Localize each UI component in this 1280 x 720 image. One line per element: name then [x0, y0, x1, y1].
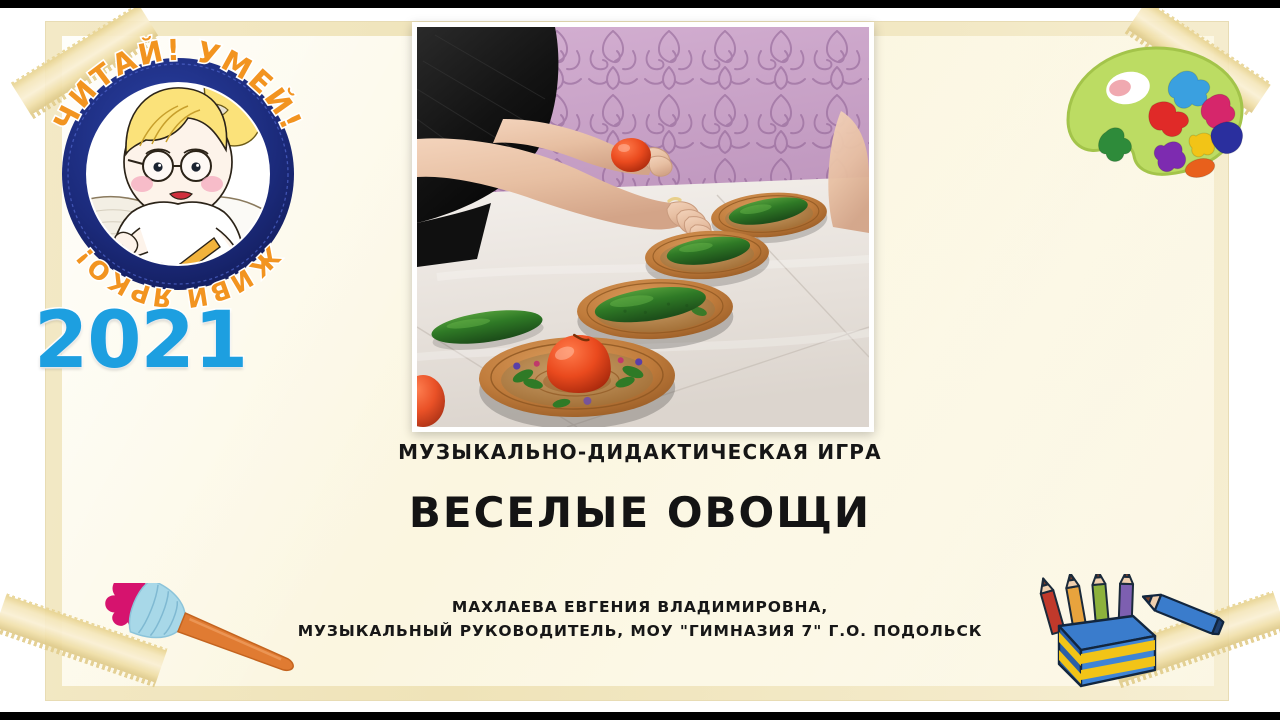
page-title: ВЕСЕЛЫЕ ОВОЩИ — [0, 488, 1280, 537]
letterbox-bar-bottom — [0, 712, 1280, 720]
logo-badge: ЧИТАЙ! УМЕЙ! ЖИВИ ЯРКО! — [28, 14, 328, 314]
photo-frame — [412, 22, 874, 432]
subtitle-text: МУЗЫКАЛЬНО-ДИДАКТИЧЕСКАЯ ИГРА — [0, 440, 1280, 464]
badge-year: 2021 — [34, 296, 247, 386]
pencil-box-icon — [1037, 574, 1242, 694]
photo-vegetables-game — [417, 27, 869, 427]
paint-palette-icon — [1060, 40, 1250, 190]
paintbrush-icon — [96, 583, 311, 678]
letterbox-bar-top — [0, 0, 1280, 8]
slide-root: ЧИТАЙ! УМЕЙ! ЖИВИ ЯРКО! 2021 — [0, 0, 1280, 720]
